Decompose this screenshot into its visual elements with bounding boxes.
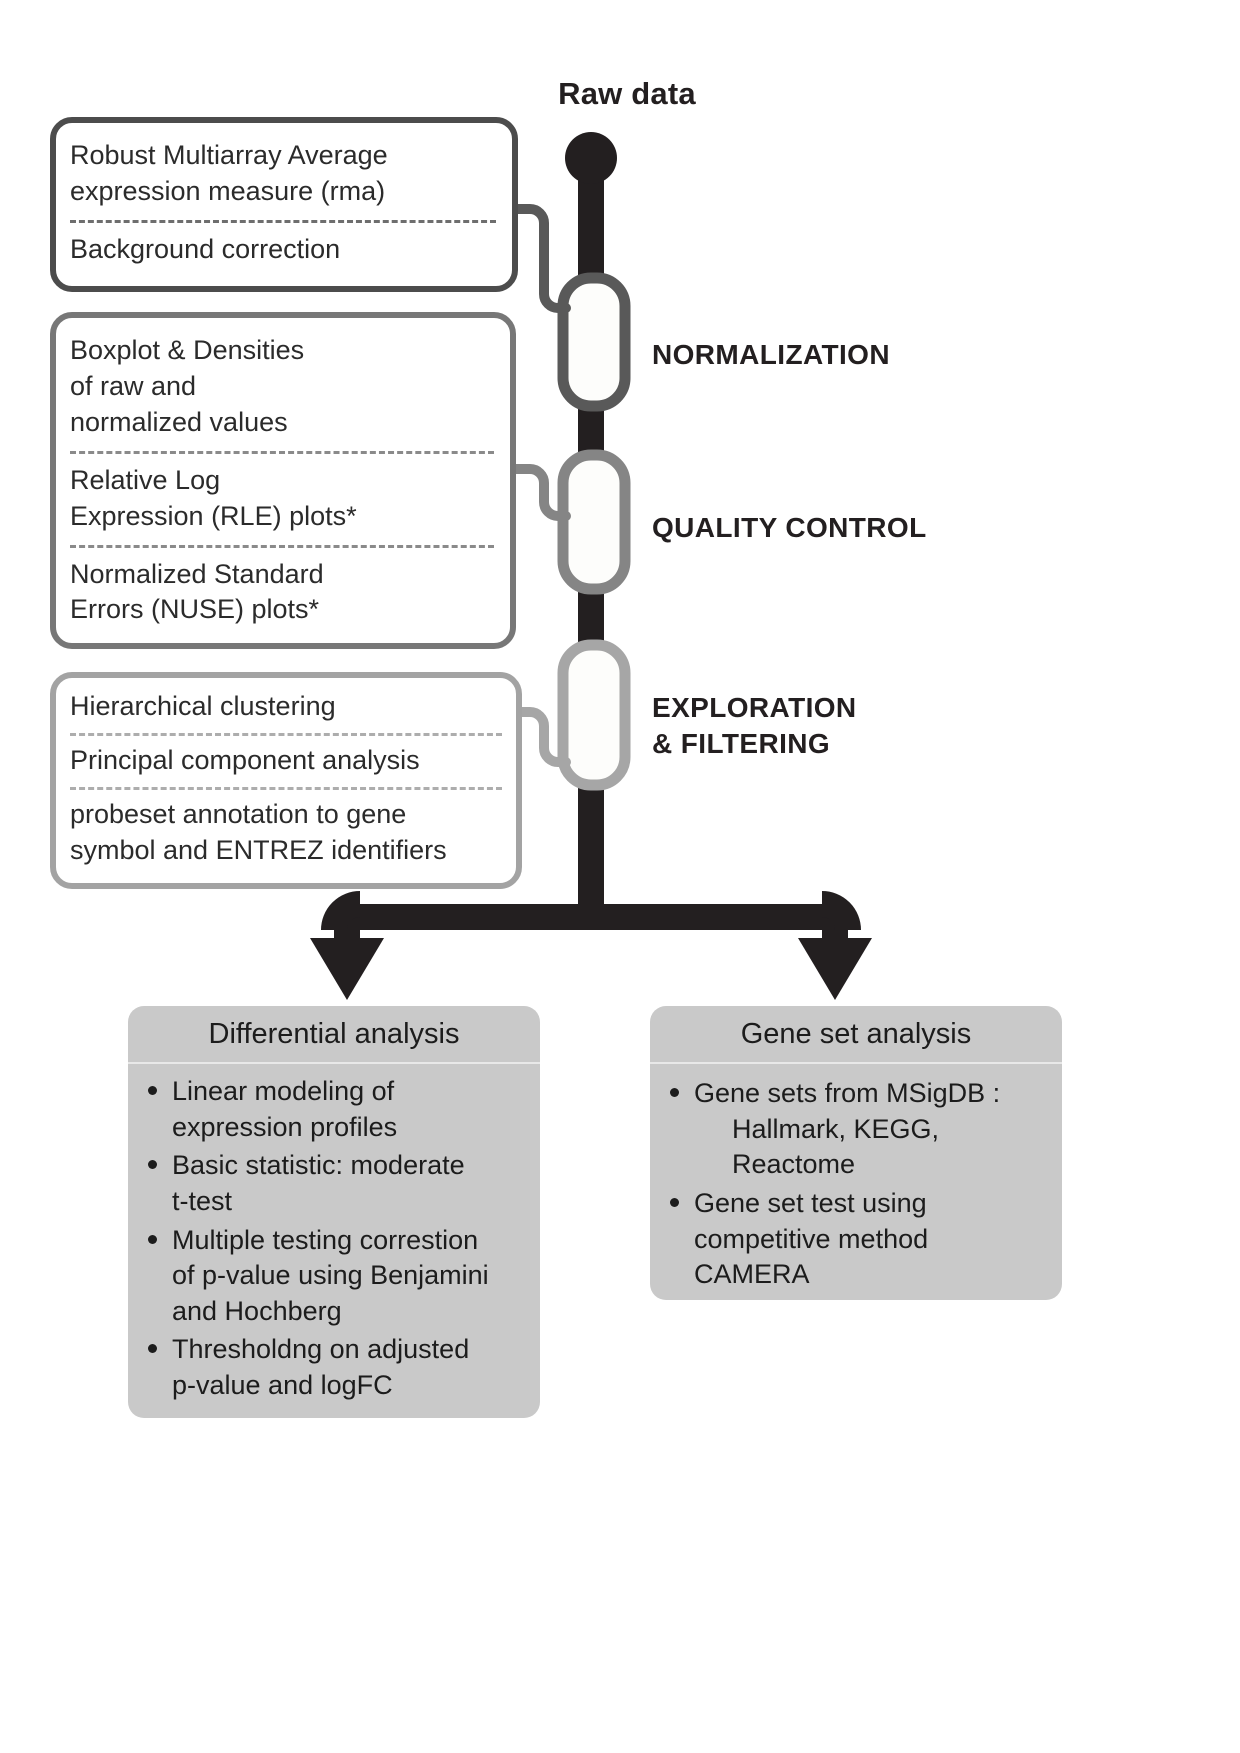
stage-item-nuse-plots: Normalized Standard Errors (NUSE) plots*: [70, 545, 494, 639]
stage-label-exploration-filtering: EXPLORATION & FILTERING: [652, 690, 857, 762]
bullet-subtext: Hallmark, KEGG, Reactome: [694, 1112, 1050, 1183]
pill-quality-control: [563, 455, 625, 589]
panel-header-differential-analysis: Differential analysis: [128, 1006, 540, 1064]
page-title: Raw data: [497, 76, 757, 112]
stage-box-normalization: Robust Multiarray Average expression mea…: [50, 117, 518, 292]
raw-data-node: [565, 132, 617, 184]
bullet-text: Linear modeling of expression profiles: [172, 1076, 397, 1142]
bullet-list-gene-set-analysis: Gene sets from MSigDB : Hallmark, KEGG, …: [650, 1064, 1062, 1300]
panel-header-gene-set-analysis: Gene set analysis: [650, 1006, 1062, 1064]
output-panel-gene-set-analysis: Gene set analysis Gene sets from MSigDB …: [650, 1006, 1062, 1300]
bullet-text: Thresholdng on adjusted p-value and logF…: [172, 1334, 469, 1400]
workflow-diagram: Raw data Robust Multiarray Average expre…: [0, 0, 1240, 1753]
bullet-text: Gene set test using competitive method C…: [694, 1188, 928, 1289]
list-item: Linear modeling of expression profiles: [146, 1074, 528, 1145]
pill-normalization: [563, 278, 625, 406]
bullet-dot-icon: [148, 1160, 157, 1169]
stage-item-pca: Principal component analysis: [70, 733, 502, 787]
bullet-dot-icon: [148, 1235, 157, 1244]
list-item: Multiple testing correstion of p-value u…: [146, 1223, 528, 1330]
stage-label-normalization: NORMALIZATION: [652, 337, 890, 373]
arrowhead-right: [798, 938, 872, 1000]
stage-item-rma: Robust Multiarray Average expression mea…: [70, 129, 496, 220]
bullet-dot-icon: [670, 1088, 679, 1097]
connector-normalization: [512, 209, 566, 308]
bullet-text: Basic statistic: moderate t-test: [172, 1150, 465, 1216]
list-item: Basic statistic: moderate t-test: [146, 1148, 528, 1219]
bullet-dot-icon: [670, 1198, 679, 1207]
stage-item-hierarchical-clustering: Hierarchical clustering: [70, 682, 502, 733]
bullet-text: Multiple testing correstion of p-value u…: [172, 1225, 489, 1326]
bullet-list-differential-analysis: Linear modeling of expression profiles B…: [128, 1064, 540, 1418]
stage-box-exploration-filtering: Hierarchical clustering Principal compon…: [50, 672, 522, 889]
stage-label-quality-control: QUALITY CONTROL: [652, 510, 927, 546]
pill-exploration: [563, 645, 625, 785]
bullet-dot-icon: [148, 1344, 157, 1353]
stage-item-rle-plots: Relative Log Expression (RLE) plots*: [70, 451, 494, 545]
stage-item-boxplot-densities: Boxplot & Densities of raw and normalize…: [70, 324, 494, 451]
arrowhead-left: [310, 938, 384, 1000]
bullet-text: Gene sets from MSigDB :: [694, 1078, 1000, 1108]
list-item: Gene sets from MSigDB : Hallmark, KEGG, …: [668, 1076, 1050, 1183]
list-item: Thresholdng on adjusted p-value and logF…: [146, 1332, 528, 1403]
stage-box-quality-control: Boxplot & Densities of raw and normalize…: [50, 312, 516, 649]
stage-item-background-correction: Background correction: [70, 220, 496, 278]
bullet-dot-icon: [148, 1086, 157, 1095]
list-item: Gene set test using competitive method C…: [668, 1186, 1050, 1293]
output-panel-differential-analysis: Differential analysis Linear modeling of…: [128, 1006, 540, 1418]
stage-item-probeset-annotation: probeset annotation to gene symbol and E…: [70, 787, 502, 877]
